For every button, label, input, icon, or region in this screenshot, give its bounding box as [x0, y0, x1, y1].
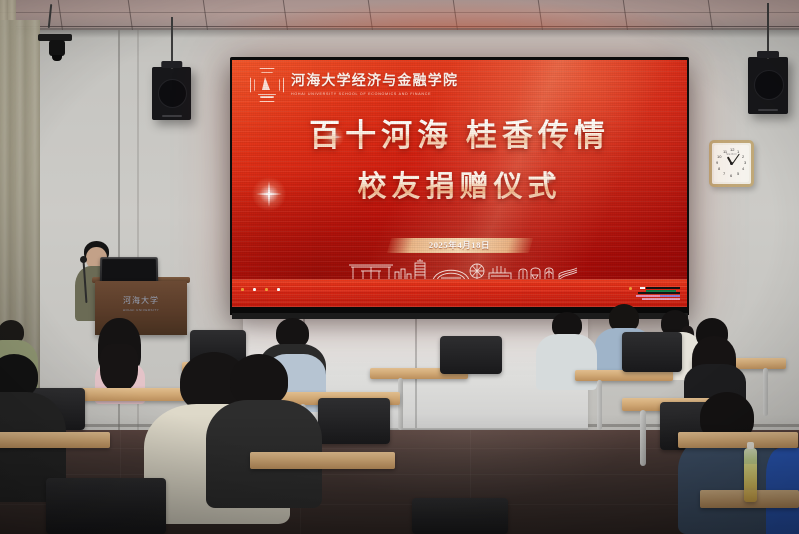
chair-back-front [46, 478, 166, 534]
desk-leg [640, 410, 646, 466]
desk-front-right [678, 432, 798, 448]
glitch-artifact-7 [642, 298, 680, 300]
clock-face: SEIKO 12 1 2 3 4 5 6 7 8 9 10 11 [714, 145, 749, 182]
attendee-torso [536, 334, 597, 390]
hohai-university-crest-icon [250, 68, 284, 102]
chair-back [622, 332, 682, 372]
drink-bottle [744, 448, 757, 502]
led-dot-4 [277, 288, 280, 291]
screen-bottom-band [232, 279, 687, 307]
clock-center-pin [730, 162, 732, 164]
led-glitch-dot [629, 287, 632, 290]
clock-num-5: 5 [737, 172, 739, 176]
event-title-block: 百十河海 桂香传情 校友捐赠仪式 [232, 118, 687, 205]
clock-num-7: 7 [723, 172, 725, 176]
clock-num-3: 3 [744, 161, 746, 165]
wall-clock: SEIKO 12 1 2 3 4 5 6 7 8 9 10 11 [709, 140, 754, 187]
clock-num-2: 2 [742, 155, 744, 159]
glitch-artifact-1 [640, 287, 645, 289]
desk-leg [597, 380, 602, 430]
led-display-screen: 河海大学经济与金融学院 HOHAI UNIVERSITY SCHOOL OF E… [232, 60, 687, 307]
desk-leg [763, 368, 768, 416]
chair-back [440, 336, 502, 374]
led-display-frame: 河海大学经济与金融学院 HOHAI UNIVERSITY SCHOOL OF E… [230, 57, 689, 315]
clock-num-11: 11 [723, 150, 727, 154]
school-name-en: HOHAI UNIVERSITY SCHOOL OF ECONOMICS AND… [291, 92, 458, 96]
clock-num-12: 12 [730, 148, 734, 152]
desk-front-left [0, 432, 110, 448]
led-dot-3 [265, 288, 268, 291]
wall-speaker-right [748, 57, 788, 114]
lectern-branding: 河海大学 HOHAI UNIVERSITY [123, 295, 159, 312]
camera-lens-icon [52, 55, 62, 61]
ceiling-camera [49, 40, 65, 56]
screen-ceiling-reflection [200, 0, 720, 30]
ceiling-shadow [0, 28, 799, 38]
desk-front-center [250, 452, 395, 469]
led-dot-2 [253, 288, 256, 291]
clock-num-8: 8 [718, 167, 720, 171]
school-logo-lockup: 河海大学经济与金融学院 HOHAI UNIVERSITY SCHOOL OF E… [250, 68, 458, 102]
led-dot-1 [241, 288, 244, 291]
bottle-cap [747, 442, 754, 449]
glitch-artifact-4 [638, 292, 680, 294]
school-name-cn: 河海大学经济与金融学院 [291, 74, 458, 89]
wall-speaker-left [152, 67, 191, 120]
glitch-artifact-6 [660, 295, 680, 297]
event-date: 2025年4月18日 [375, 238, 545, 253]
bottle-label [744, 464, 757, 488]
screenshot-root: SEIKO 12 1 2 3 4 5 6 7 8 9 10 11 [0, 0, 799, 534]
clock-num-4: 4 [742, 167, 744, 171]
attendee-hair-fall [100, 344, 138, 392]
chair-back [318, 398, 390, 444]
glitch-artifact-2 [646, 287, 680, 289]
attendee-hair [230, 354, 288, 406]
glitch-artifact-5 [636, 295, 660, 297]
event-title-main: 百十河海 桂香传情 [232, 118, 687, 154]
lectern-name-en: HOHAI UNIVERSITY [123, 308, 159, 312]
gooseneck-microphone-icon [80, 256, 87, 263]
clock-num-6: 6 [730, 174, 732, 178]
clock-num-9: 9 [716, 161, 718, 165]
chair-back-front [412, 498, 508, 534]
clock-num-10: 10 [717, 155, 721, 159]
lectern-name-cn: 河海大学 [123, 295, 159, 306]
event-title-sub: 校友捐赠仪式 [232, 163, 687, 205]
